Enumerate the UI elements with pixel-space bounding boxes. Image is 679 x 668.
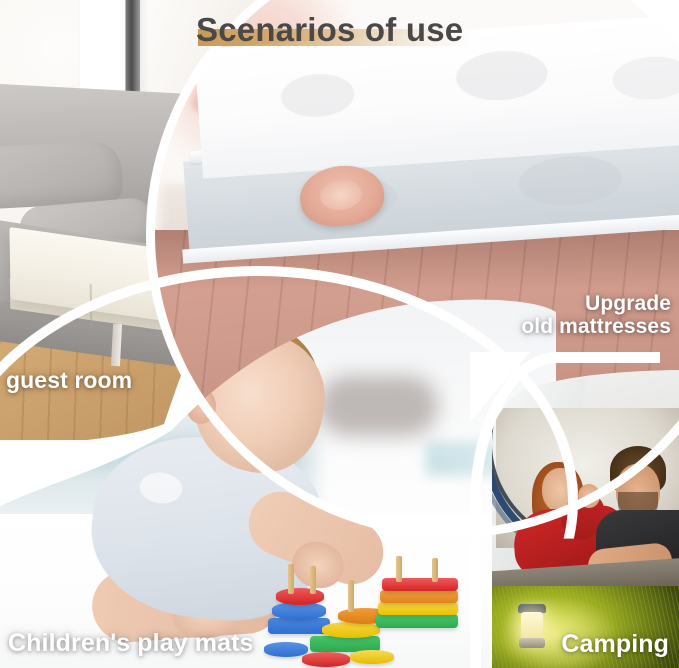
scenarios-of-use-collage: Scenarios of use guest room Upgrade old …	[0, 0, 679, 668]
label-camping: Camping	[561, 631, 669, 658]
toy-peg	[396, 556, 402, 582]
toy-ring-red	[302, 652, 350, 667]
toy-block-red	[382, 578, 458, 591]
lantern-glow	[521, 612, 543, 640]
toy-block-orange	[380, 590, 458, 603]
panel-camping	[492, 368, 679, 668]
lantern-base	[519, 638, 545, 648]
play-blurred-object	[318, 376, 438, 436]
toy-peg	[288, 564, 294, 594]
page-title: Scenarios of use	[196, 8, 463, 54]
toy-ring-red	[276, 588, 324, 605]
label-childrens-play-mats: Children's play mats	[8, 630, 254, 657]
toy-base-blue	[268, 618, 330, 634]
stacking-toys-group	[266, 556, 466, 666]
toy-ring-blue	[264, 642, 308, 657]
toy-block-yellow	[378, 602, 458, 615]
woman-hand	[578, 484, 600, 508]
toy-peg	[348, 580, 354, 612]
toy-peg	[432, 558, 438, 582]
toy-ring-yellow	[322, 622, 380, 638]
toy-block-green	[376, 614, 458, 628]
label-guest-room: guest room	[6, 368, 132, 393]
toy-ring-yellow	[350, 650, 394, 664]
toy-peg	[310, 566, 316, 594]
title-text: Scenarios of use	[196, 8, 463, 52]
label-upgrade-old-mattresses: Upgrade old mattresses	[521, 293, 671, 338]
